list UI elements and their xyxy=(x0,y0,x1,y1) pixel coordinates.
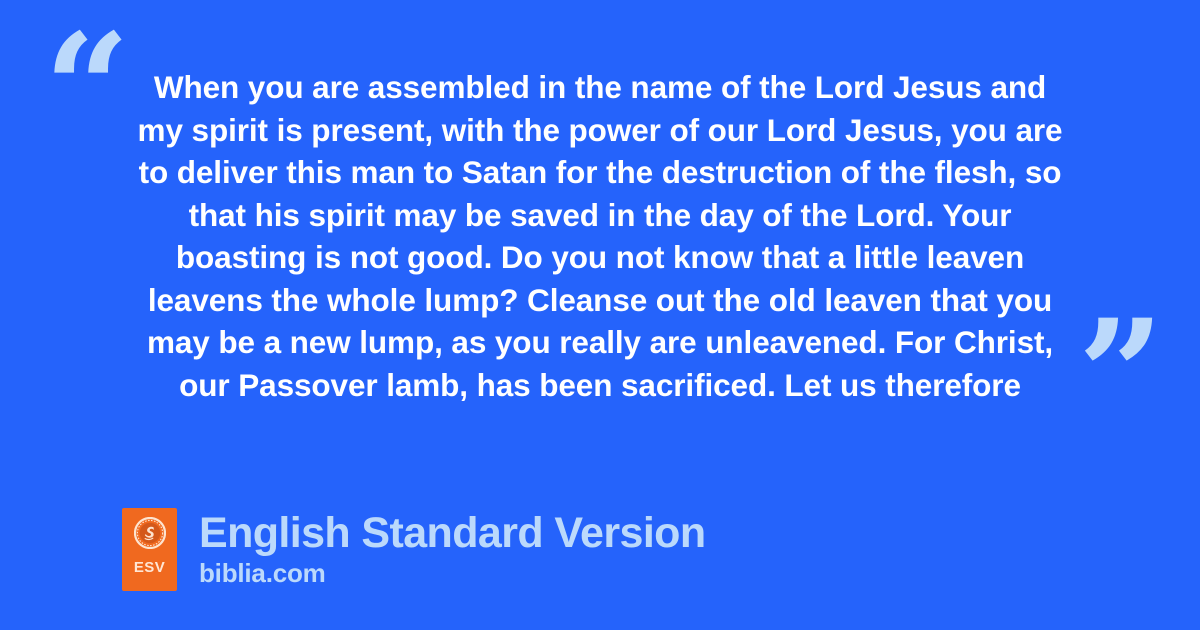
attribution-footer: ESV English Standard Version biblia.com xyxy=(122,508,706,591)
verse-line: our Passover lamb, has been sacrificed. … xyxy=(112,364,1088,407)
esv-seal-icon xyxy=(134,517,166,549)
verse-line: leavens the whole lump? Cleanse out the … xyxy=(112,279,1088,322)
verse-line: to deliver this man to Satan for the des… xyxy=(112,151,1088,194)
verse-line: may be a new lump, as you really are unl… xyxy=(112,321,1088,364)
version-abbreviation-label: ESV xyxy=(134,560,165,575)
verse-line: that his spirit may be saved in the day … xyxy=(112,194,1088,237)
bible-verse-quote-card: “ When you are assembled in the name of … xyxy=(0,0,1200,630)
verse-line: my spirit is present, with the power of … xyxy=(112,109,1088,152)
source-site-url: biblia.com xyxy=(199,559,706,587)
verse-line: boasting is not good. Do you not know th… xyxy=(112,236,1088,279)
bible-version-name: English Standard Version xyxy=(199,510,706,557)
closing-quotation-mark-icon: ” xyxy=(1078,300,1162,450)
attribution-text-group: English Standard Version biblia.com xyxy=(199,508,706,587)
esv-version-badge: ESV xyxy=(122,508,177,591)
verse-line: When you are assembled in the name of th… xyxy=(112,66,1088,109)
verse-text-block: When you are assembled in the name of th… xyxy=(112,66,1088,406)
